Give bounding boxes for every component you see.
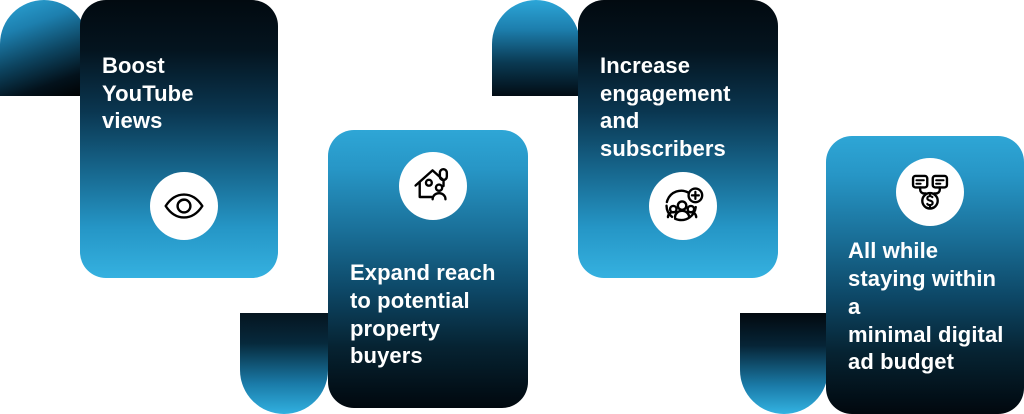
eye-icon-badge (150, 172, 218, 240)
card-increase-engagement-icon-wrap (578, 172, 778, 240)
tab-behind-card-4 (740, 313, 828, 414)
card-expand-reach-text: Expand reach to potential property buyer… (328, 259, 528, 370)
card-expand-reach[interactable]: Expand reach to potential property buyer… (328, 130, 528, 408)
tab-behind-card-3 (492, 0, 580, 96)
tab-behind-card-2 (240, 313, 328, 414)
ad-budget-coin-icon (908, 170, 952, 214)
house-person-icon (411, 164, 455, 208)
ad-budget-coin-icon-badge (896, 158, 964, 226)
card-boost-views[interactable]: Boost YouTube views (80, 0, 278, 278)
card-boost-views-icon-wrap (80, 172, 278, 240)
card-boost-views-text: Boost YouTube views (80, 52, 278, 135)
card-increase-engagement-text: Increase engagement and subscribers (578, 52, 778, 163)
group-add-icon-badge (649, 172, 717, 240)
house-person-icon-badge (399, 152, 467, 220)
group-add-icon (661, 184, 705, 228)
card-minimal-budget-icon-wrap (826, 158, 1024, 226)
card-expand-reach-icon-wrap (328, 152, 528, 220)
card-minimal-budget-text: All while staying within a minimal digit… (826, 237, 1024, 376)
tab-behind-card-1 (0, 0, 88, 96)
eye-icon (162, 184, 206, 228)
card-increase-engagement[interactable]: Increase engagement and subscribers (578, 0, 778, 278)
infographic-canvas: Boost YouTube views (0, 0, 1024, 414)
card-minimal-budget[interactable]: All while staying within a minimal digit… (826, 136, 1024, 414)
